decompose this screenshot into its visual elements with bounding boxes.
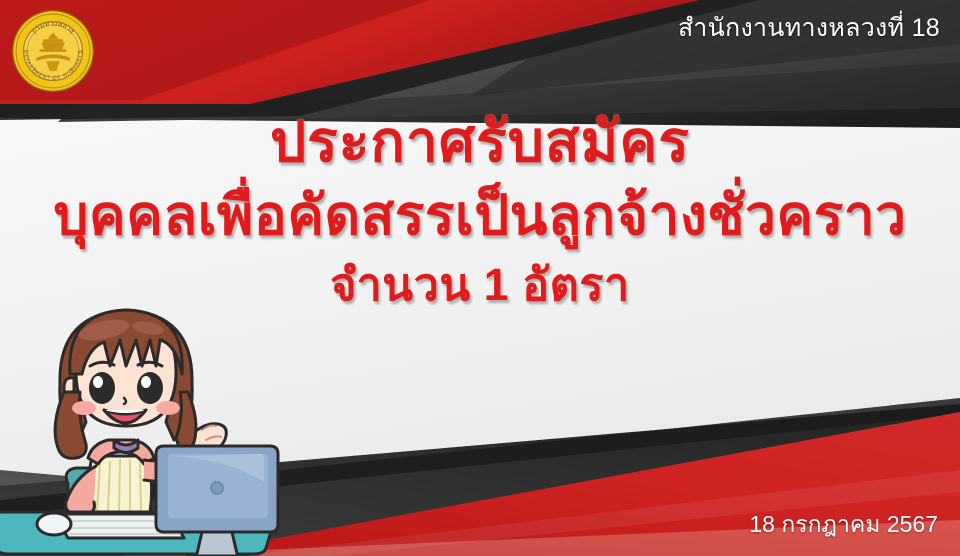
office-label: สำนักงานทางหลวงที่ 18 bbox=[678, 8, 940, 48]
headline-line-2: บุคคลเพื่อคัดสรรเป็นลูกจ้างชั่วคราว bbox=[0, 186, 960, 244]
announcement-poster: กรมทางหลวง DEPARTMENT OF HIGHWAYS สำนักง… bbox=[0, 0, 960, 556]
left-eye bbox=[89, 372, 115, 404]
monitor-stand bbox=[196, 532, 238, 556]
headline-line-1: ประกาศรับสมัคร bbox=[0, 112, 960, 172]
left-blush bbox=[72, 401, 96, 415]
right-eye bbox=[137, 372, 163, 404]
date-label: 18 กรกฎาคม 2567 bbox=[749, 507, 938, 543]
headline-block: ประกาศรับสมัคร บุคคลเพื่อคัดสรรเป็นลูกจ้… bbox=[0, 112, 960, 308]
mouse bbox=[37, 513, 71, 535]
right-blush bbox=[156, 401, 180, 415]
girl-at-computer-illustration bbox=[0, 288, 296, 556]
department-of-highways-emblem: กรมทางหลวง DEPARTMENT OF HIGHWAYS bbox=[11, 9, 95, 93]
